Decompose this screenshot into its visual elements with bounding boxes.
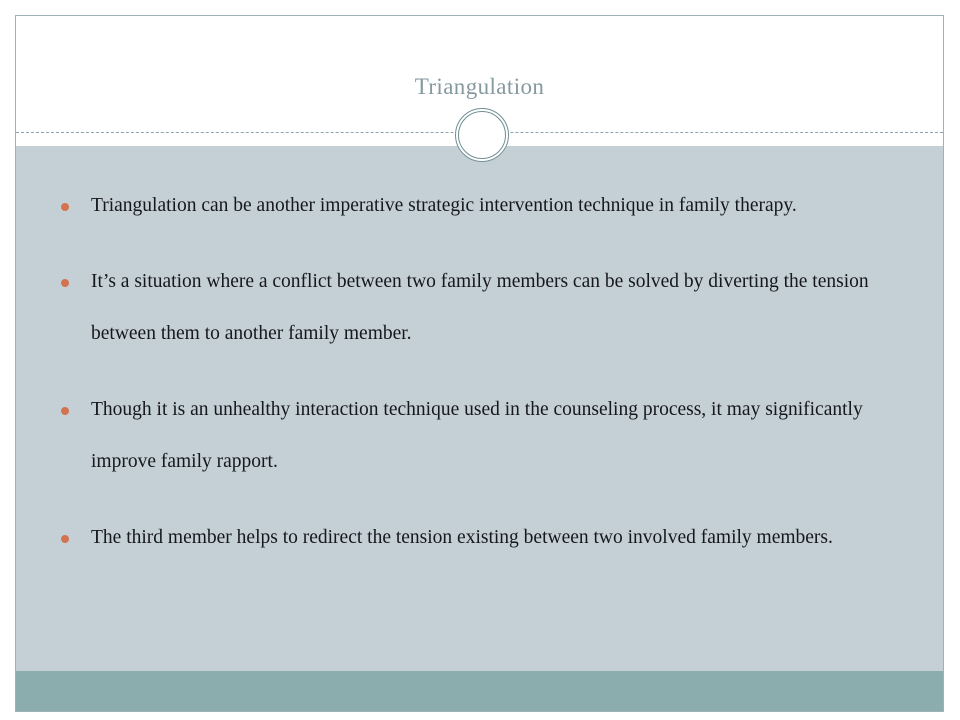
ornament-inner-ring bbox=[458, 111, 506, 159]
double-circle-ornament-icon bbox=[455, 108, 509, 162]
bullet-dot-icon bbox=[61, 407, 69, 415]
list-item-text: It’s a situation where a conflict betwee… bbox=[91, 256, 913, 360]
list-item: The third member helps to redirect the t… bbox=[38, 512, 913, 564]
footer-accent-band bbox=[16, 671, 943, 711]
list-item: Triangulation can be another imperative … bbox=[38, 180, 913, 232]
bullet-dot-icon bbox=[61, 279, 69, 287]
list-item: Though it is an unhealthy interaction te… bbox=[38, 384, 913, 488]
bullet-dot-icon bbox=[61, 203, 69, 211]
bullet-dot-icon bbox=[61, 535, 69, 543]
bullet-list: Triangulation can be another imperative … bbox=[38, 180, 913, 564]
list-item-text: The third member helps to redirect the t… bbox=[91, 512, 913, 564]
presentation-slide: Triangulation Triangulation can be anoth… bbox=[15, 15, 944, 712]
list-item: It’s a situation where a conflict betwee… bbox=[38, 256, 913, 360]
list-item-text: Triangulation can be another imperative … bbox=[91, 180, 913, 232]
slide-body-area: Triangulation can be another imperative … bbox=[16, 146, 943, 711]
page-title: Triangulation bbox=[16, 73, 943, 101]
list-item-text: Though it is an unhealthy interaction te… bbox=[91, 384, 913, 488]
